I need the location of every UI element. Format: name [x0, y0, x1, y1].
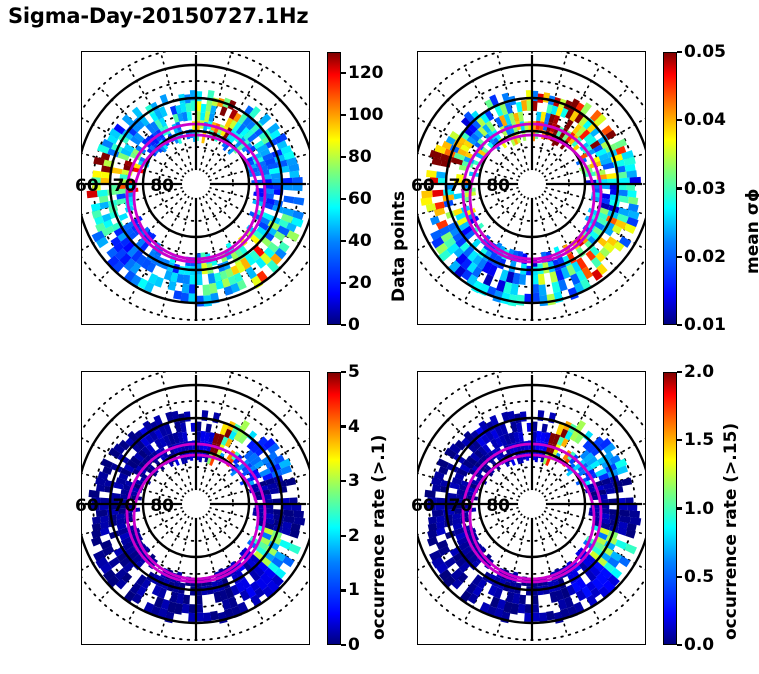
colorbar-tick: 0.0: [677, 635, 714, 655]
colorbar-tick: 4: [341, 417, 360, 437]
tick-label: 100: [348, 105, 384, 125]
colorbar-gradient: [663, 52, 677, 325]
colorbar-label: occurrence rate (>.1): [369, 435, 389, 640]
colorbar-tick: 60: [341, 189, 372, 209]
tick-mark: [341, 644, 346, 646]
lat-label-70: 70: [449, 178, 473, 195]
colorbar-tick: 80: [341, 147, 372, 167]
tick-mark: [341, 589, 346, 591]
colorbar-occurrence-rate-01: 012345 occurrence rate (>.1): [327, 372, 341, 645]
colorbar-tick: 1.5: [677, 430, 714, 450]
lat-label-70: 70: [113, 178, 137, 195]
colorbar-tick: 3: [341, 471, 360, 491]
tick-label: 2.0: [684, 362, 714, 382]
panel-occurrence-rate-01: 60 70 80: [81, 371, 310, 645]
tick-mark: [341, 324, 346, 326]
colorbar-tick: 20: [341, 273, 372, 293]
tick-label: 0.03: [684, 179, 726, 199]
colorbar-tick: 2: [341, 526, 360, 546]
colorbar-tick: 40: [341, 231, 372, 251]
figure-title: Sigma-Day-20150727.1Hz: [8, 4, 308, 28]
colorbar-tick: 100: [341, 105, 384, 125]
colorbar-label: occurrence rate (>.15): [721, 423, 741, 640]
tick-mark: [341, 371, 346, 373]
tick-label: 0: [348, 315, 360, 335]
tick-label: 1.5: [684, 430, 714, 450]
lat-label-60: 60: [411, 498, 435, 515]
tick-mark: [677, 576, 682, 578]
panel-mean-sigma-phi: 60 70 80: [417, 51, 646, 325]
tick-label: 0: [348, 635, 360, 655]
lat-label-80: 80: [486, 498, 510, 515]
tick-label: 20: [348, 273, 372, 293]
colorbar-gradient: [327, 52, 341, 325]
colorbar-tick: 0.03: [677, 179, 726, 199]
tick-mark: [341, 114, 346, 116]
tick-label: 2: [348, 526, 360, 546]
lat-label-60: 60: [75, 178, 99, 195]
lat-label-80: 80: [150, 498, 174, 515]
tick-label: 1: [348, 580, 360, 600]
tick-label: 4: [348, 417, 360, 437]
lat-label-60: 60: [411, 178, 435, 195]
tick-label: 60: [348, 189, 372, 209]
lat-label-70: 70: [113, 498, 137, 515]
tick-label: 0.5: [684, 567, 714, 587]
colorbar-tick: 1.0: [677, 499, 714, 519]
tick-mark: [677, 324, 682, 326]
tick-mark: [341, 535, 346, 537]
lat-label-60: 60: [75, 498, 99, 515]
tick-mark: [677, 507, 682, 509]
colorbar-tick: 0.01: [677, 315, 726, 335]
colorbar-tick: 2.0: [677, 362, 714, 382]
colorbar-tick: 5: [341, 362, 360, 382]
colorbar-tick: 1: [341, 580, 360, 600]
tick-mark: [341, 156, 346, 158]
colorbar-tick: 0.5: [677, 567, 714, 587]
tick-mark: [341, 198, 346, 200]
latitude-tick-labels: 60 70 80: [411, 175, 531, 197]
colorbar-occurrence-rate-015: 0.00.51.01.52.0 occurrence rate (>.15): [663, 372, 677, 645]
tick-mark: [677, 187, 682, 189]
latitude-tick-labels: 60 70 80: [75, 495, 195, 517]
colorbar-tick: 0: [341, 315, 360, 335]
tick-mark: [677, 256, 682, 258]
colorbar-tick: 0.05: [677, 42, 726, 62]
colorbar-tick: 120: [341, 63, 384, 83]
panel-data-points: 60 70 80: [81, 51, 310, 325]
tick-label: 80: [348, 147, 372, 167]
panel-occurrence-rate-015: 60 70 80: [417, 371, 646, 645]
tick-mark: [677, 51, 682, 53]
colorbar-gradient: [663, 372, 677, 645]
figure-canvas: Sigma-Day-20150727.1Hz 60 70 80 02040608…: [0, 0, 759, 674]
colorbar-mean-sigma-phi: 0.010.020.030.040.05 mean σϕ: [663, 52, 677, 325]
lat-label-80: 80: [486, 178, 510, 195]
colorbar-tick: 0.02: [677, 247, 726, 267]
tick-label: 5: [348, 362, 360, 382]
colorbar-label: mean σϕ: [743, 188, 759, 274]
colorbar-data-points: 020406080100120 Data points: [327, 52, 341, 325]
tick-mark: [677, 119, 682, 121]
tick-mark: [341, 240, 346, 242]
tick-mark: [341, 72, 346, 74]
tick-mark: [677, 439, 682, 441]
colorbar-gradient: [327, 372, 341, 645]
tick-mark: [341, 480, 346, 482]
colorbar-tick: 0.04: [677, 110, 726, 130]
tick-label: 0.01: [684, 315, 726, 335]
lat-label-80: 80: [150, 178, 174, 195]
tick-mark: [341, 282, 346, 284]
tick-label: 0.05: [684, 42, 726, 62]
latitude-tick-labels: 60 70 80: [75, 175, 195, 197]
tick-label: 1.0: [684, 499, 714, 519]
tick-label: 0.0: [684, 635, 714, 655]
tick-mark: [677, 644, 682, 646]
tick-label: 0.04: [684, 110, 726, 130]
colorbar-tick: 0: [341, 635, 360, 655]
tick-label: 0.02: [684, 247, 726, 267]
tick-label: 3: [348, 471, 360, 491]
lat-label-70: 70: [449, 498, 473, 515]
tick-mark: [341, 425, 346, 427]
latitude-tick-labels: 60 70 80: [411, 495, 531, 517]
tick-label: 120: [348, 63, 384, 83]
colorbar-label: Data points: [389, 191, 409, 302]
tick-label: 40: [348, 231, 372, 251]
tick-mark: [677, 371, 682, 373]
